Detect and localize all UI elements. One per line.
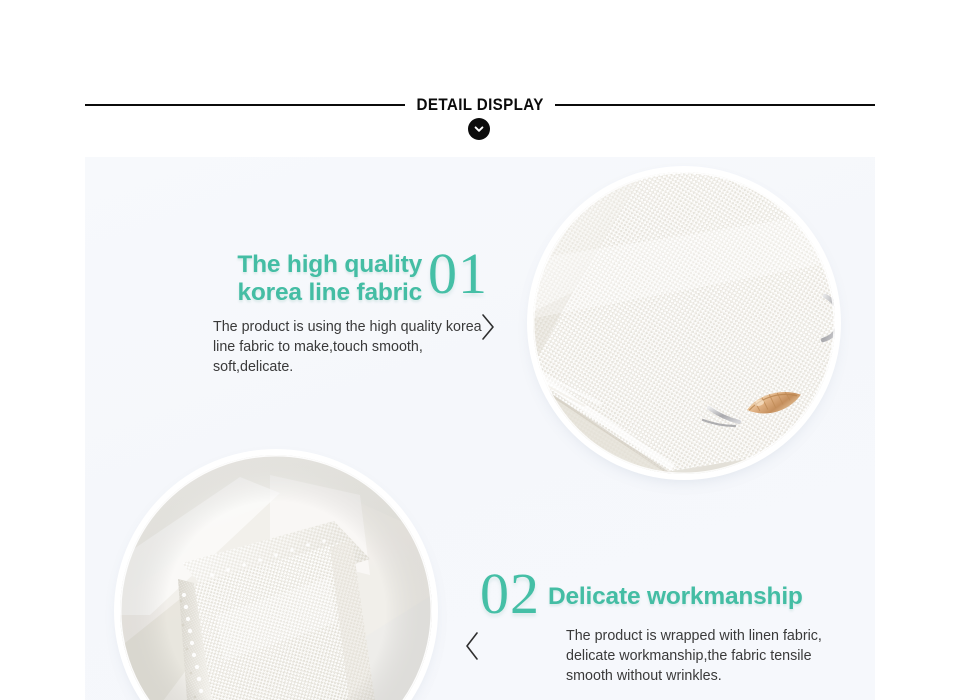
- header-rule-right: [555, 104, 875, 106]
- chevron-right-icon[interactable]: [480, 312, 496, 342]
- scroll-down-badge[interactable]: [468, 118, 490, 140]
- block-01-body: The product is using the high quality ko…: [128, 317, 488, 378]
- detail-panel: The high quality korea line fabric 01 Th…: [85, 157, 875, 700]
- block-01-photo: [533, 172, 835, 474]
- block-01-heading-line1: The high quality: [237, 251, 422, 279]
- block-02-photo-image: [120, 455, 432, 700]
- block-02-number: 02: [480, 570, 540, 618]
- block-02-body: The product is wrapped with linen fabric…: [480, 626, 850, 687]
- top-spacer: [85, 0, 875, 96]
- block-02-heading-line1: Delicate workmanship: [548, 583, 803, 617]
- block-01-heading: The high quality korea line fabric: [237, 249, 422, 308]
- block-02-title-row: 02 Delicate workmanship: [480, 570, 850, 618]
- detail-block-01: The high quality korea line fabric 01 Th…: [85, 157, 875, 457]
- block-02-photo: [120, 455, 432, 700]
- section-header: DETAIL DISPLAY: [85, 93, 875, 117]
- section-title: DETAIL DISPLAY: [411, 96, 549, 115]
- block-01-text: The high quality korea line fabric 01 Th…: [128, 249, 488, 378]
- chevron-left-icon[interactable]: [464, 630, 480, 662]
- chevron-down-icon: [473, 123, 485, 135]
- detail-display-page: DETAIL DISPLAY The high quality korea li…: [0, 0, 960, 700]
- block-01-heading-line2: korea line fabric: [237, 279, 422, 307]
- block-02-text: 02 Delicate workmanship The product is w…: [480, 570, 850, 686]
- header-rule-left: [85, 104, 405, 106]
- block-01-title-row: The high quality korea line fabric 01: [128, 249, 488, 308]
- block-01-number: 01: [428, 249, 488, 299]
- block-01-photo-image: [533, 172, 835, 474]
